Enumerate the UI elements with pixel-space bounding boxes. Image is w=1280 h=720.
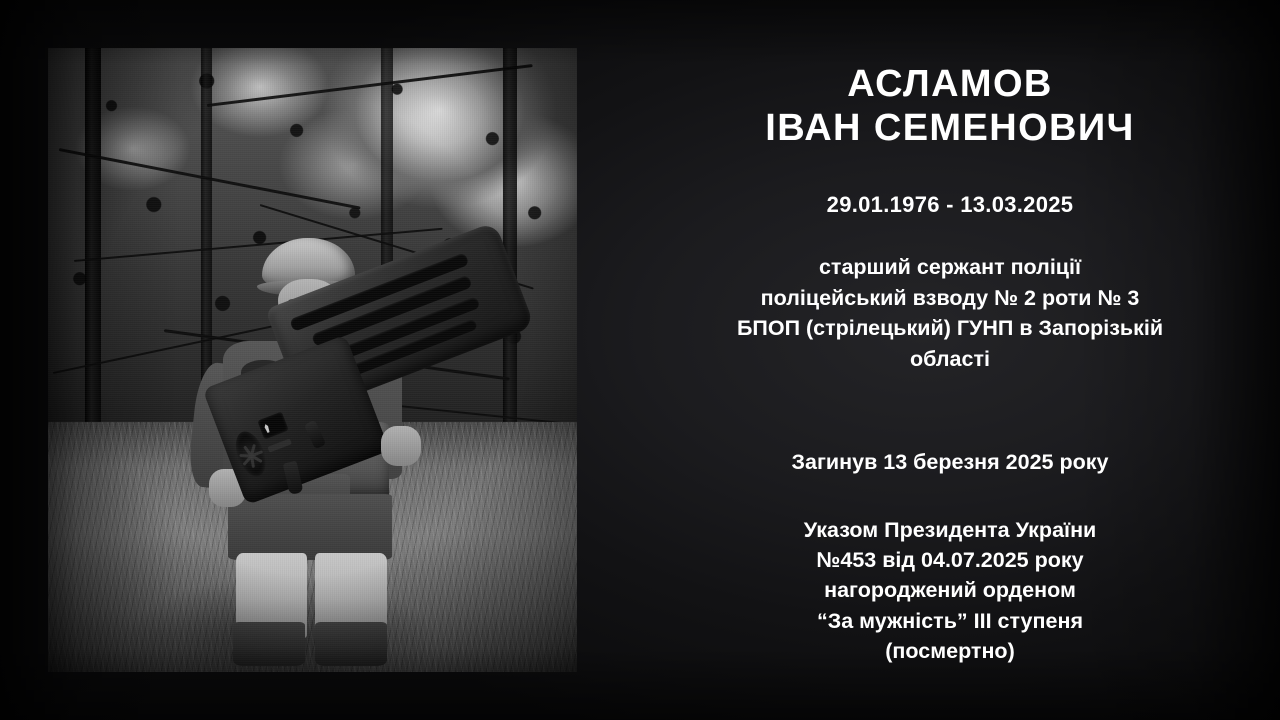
hand bbox=[381, 426, 421, 467]
gun-label-strip bbox=[267, 438, 292, 453]
award-line: (посмертно) bbox=[620, 636, 1280, 666]
life-dates: 29.01.1976 - 13.03.2025 bbox=[620, 150, 1280, 218]
award-line: “За мужність” III ступеня bbox=[620, 606, 1280, 636]
surname: АСЛАМОВ bbox=[620, 0, 1280, 106]
award-line: №453 від 04.07.2025 року bbox=[620, 545, 1280, 575]
rank-line: старший сержант поліції bbox=[620, 252, 1280, 283]
award-statement: Указом Президента України №453 від 04.07… bbox=[620, 475, 1280, 665]
rank-line: області bbox=[620, 344, 1280, 375]
manufacturer-logo-plate bbox=[257, 412, 288, 440]
date-of-death-statement: Загинув 13 березня 2025 року bbox=[620, 374, 1280, 475]
rank-line: БПОП (стрілецький) ГУНП в Запорізькій bbox=[620, 313, 1280, 344]
award-line: нагороджений орденом bbox=[620, 575, 1280, 605]
boot bbox=[233, 622, 304, 666]
rank-line: поліцейський взводу № 2 роти № 3 bbox=[620, 283, 1280, 314]
photo-content bbox=[48, 48, 577, 672]
gun-grip bbox=[283, 460, 304, 494]
boot bbox=[315, 622, 386, 666]
award-line: Указом Президента України bbox=[620, 515, 1280, 545]
rank-and-unit: старший сержант поліції поліцейський взв… bbox=[620, 218, 1280, 374]
given-name: ІВАН СЕМЕНОВИЧ bbox=[620, 106, 1280, 150]
memorial-photo bbox=[48, 48, 577, 672]
gun-foregrip bbox=[304, 420, 327, 450]
memorial-card: АСЛАМОВ ІВАН СЕМЕНОВИЧ 29.01.1976 - 13.0… bbox=[0, 0, 1280, 720]
memorial-text-column: АСЛАМОВ ІВАН СЕМЕНОВИЧ 29.01.1976 - 13.0… bbox=[620, 0, 1280, 720]
